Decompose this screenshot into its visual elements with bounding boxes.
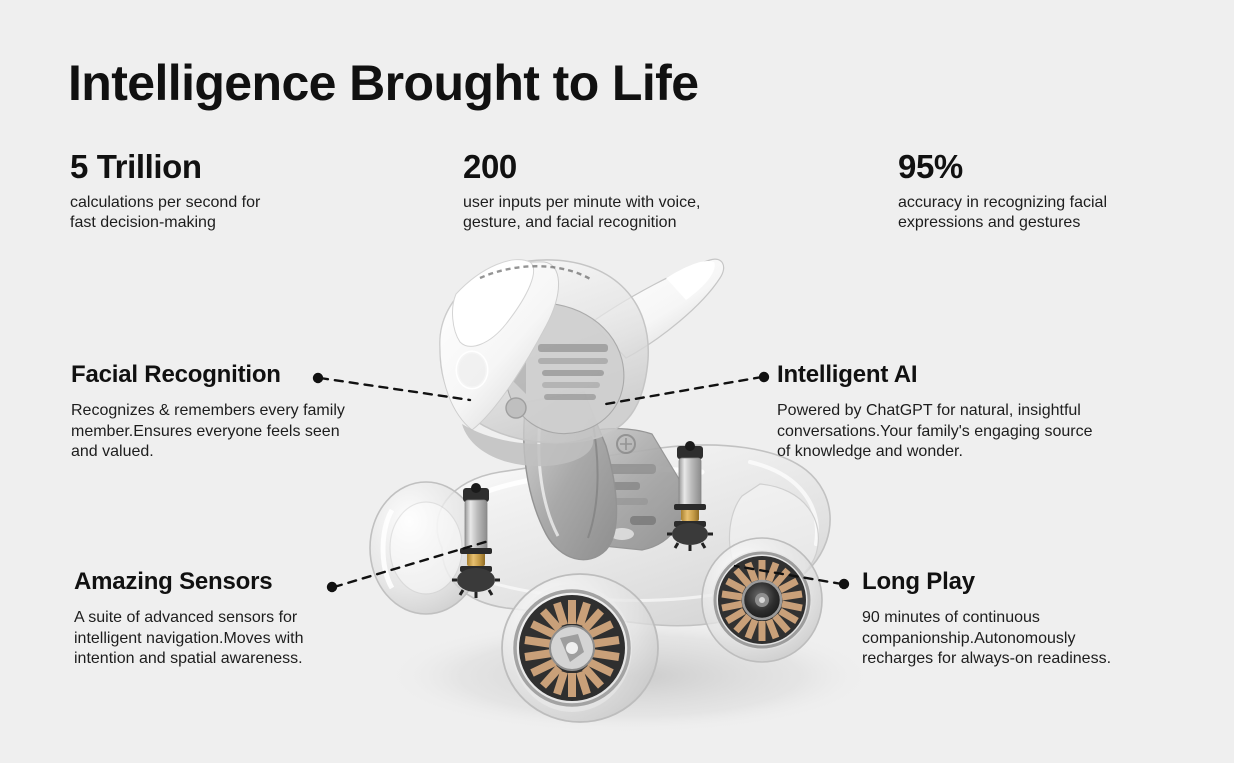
stat-block-user-inputs: 200 user inputs per minute with voice, g… [463,148,803,233]
wheel-rear-right [702,538,822,662]
feature-amazing-sensors: Amazing Sensors A suite of advanced sens… [74,569,404,669]
feature-description: Recognizes & remembers every family memb… [71,401,431,461]
stat-block-calculations: 5 Trillion calculations per second for f… [70,148,400,233]
stat-description: user inputs per minute with voice, gestu… [463,193,803,233]
feature-description: 90 minutes of continuous companionship.A… [862,608,1202,668]
feature-description: Powered by ChatGPT for natural, insightf… [777,401,1187,461]
robot-eye [457,352,487,388]
page-title: Intelligence Brought to Life [68,57,698,110]
product-image-robot-dog [330,248,930,748]
feature-title: Long Play [862,569,1202,595]
feature-title: Intelligent AI [777,362,1187,388]
infographic-page: Intelligence Brought to Life 5 Trillion … [0,0,1234,763]
stat-block-accuracy: 95% accuracy in recognizing facial expre… [898,148,1218,233]
stat-value: 95% [898,148,1218,186]
robot-dog-illustration [330,248,930,748]
feature-title: Amazing Sensors [74,569,404,595]
feature-long-play: Long Play 90 minutes of continuous compa… [862,569,1202,669]
feature-intelligent-ai: Intelligent AI Powered by ChatGPT for na… [777,362,1187,462]
wheel-front [502,574,658,722]
stat-value: 5 Trillion [70,148,400,186]
feature-title: Facial Recognition [71,362,431,388]
robot-head [440,259,724,466]
stat-description: accuracy in recognizing facial expressio… [898,193,1218,233]
stat-description: calculations per second for fast decisio… [70,193,400,233]
stat-value: 200 [463,148,803,186]
feature-facial-recognition: Facial Recognition Recognizes & remember… [71,362,431,462]
feature-description: A suite of advanced sensors for intellig… [74,608,404,668]
